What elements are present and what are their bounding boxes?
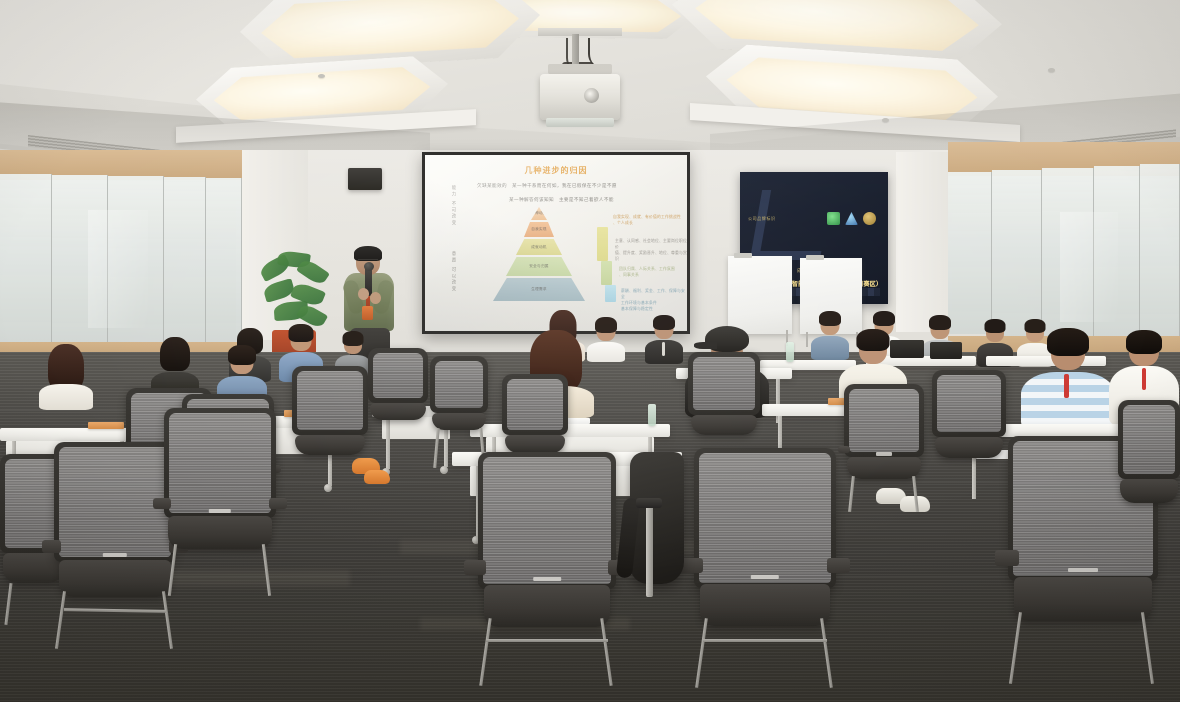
smoke-detector-icon [1048,68,1055,72]
chair-mesh [483,457,611,584]
projector-base-tray [546,118,614,127]
projection-screen: 几种进步的归因 欠缺某能效的 某一种干系而在何如，我在已假保在不少是不愿 某一种… [422,152,690,334]
glass-pane [164,177,206,347]
chair-mesh [169,413,271,513]
chair-backrest [478,452,616,589]
slide-pyramid-diagram: 精神动力 自我实现 成就动机 安全与归属 生理需求 [487,203,591,303]
chair-mesh [297,371,363,430]
chair-mesh [699,453,831,583]
flipchart-easel-pad [728,256,792,334]
mesh-task-chair-foreground[interactable] [164,408,276,574]
chair-mesh [435,361,483,408]
slide-body-line-1: 欠缺某能效的 某一种干系而在何如，我在已假保在不少是不愿 [477,183,617,189]
mesh-task-chair[interactable] [292,366,368,470]
chair-seat [1120,479,1177,503]
chair-seat [59,560,171,596]
presenter-right-hand [370,292,381,304]
attendee-hair [1047,328,1089,356]
slide-side-label-bottom: 意愿 可以改变 [451,251,457,293]
attendee-dark-polo-far [644,316,684,362]
chair-armrest [995,550,1019,565]
glass-pane [992,170,1042,336]
attendee-hair [1126,330,1162,354]
chair-backrest [694,448,836,588]
chair-mesh [849,389,919,452]
attendee-hair [929,315,951,330]
orange-folder [88,422,124,429]
flipchart-clip-icon [734,253,752,258]
pyramid-tier: 成就动机 [516,239,562,255]
pyramid-tier-label: 安全与归属 [529,264,548,269]
chair-label-tag [103,553,127,557]
attendee-man-striped-polo [1020,330,1116,430]
projector-ceiling-plate [538,28,622,36]
chair-label-tag [533,577,561,581]
attendee-hair [160,337,190,371]
orange-shoe [364,470,390,484]
medal-badge-icon [863,212,876,225]
chair-backrest [1118,400,1180,479]
glass-pane [206,178,242,346]
chair-seat [691,415,757,434]
wall-mounted-speaker [348,168,382,190]
slide-note: 自我实现、成就、有价值的工作挑战性 、个人成长 [613,215,681,227]
projector-bracket [548,64,612,74]
attendee-hair [985,319,1006,333]
chair-backrest [502,374,568,435]
flipchart-clip-icon [806,255,824,260]
mesh-task-chair[interactable] [1118,400,1180,520]
attendee-hair [228,345,256,365]
chair-seat [700,584,831,626]
presenter-left-hand [358,288,369,300]
mesh-task-chair[interactable] [932,370,1006,472]
banner-sponsor-icons [827,212,876,225]
flipchart-leg [806,332,808,347]
mesh-task-chair[interactable] [844,384,924,494]
attendee-hair [653,315,675,330]
pyramid-tier: 自我实现 [524,222,554,237]
glass-pane [948,172,992,334]
mesh-task-chair-foreground[interactable] [54,442,176,624]
attendee-top [39,384,93,410]
chair-seat [847,457,921,479]
chair-armrest [464,560,486,575]
chair-mesh [5,459,61,548]
mesh-task-chair[interactable] [430,356,488,442]
attendee-hair [595,317,617,333]
projection-screen-surface: 几种进步的归因 欠缺某能效的 某一种干系而在何如，我在已假保在不少是不愿 某一种… [425,155,687,331]
attendee-lanyard [662,342,665,356]
pyramid-callout-bar [605,285,616,302]
pyramid-callout-bar [601,261,612,285]
chair-seat [370,403,425,420]
banner-brand-text: 公司品牌标识 [748,216,776,222]
pyramid-callout-bar [597,227,608,261]
presenter-badge [362,306,373,320]
slide-note: 团队归属、人际关系、工作氛围 、同事关系 [619,267,675,279]
chair-seat [1014,577,1152,621]
chair-mesh [693,357,755,410]
plant-leaf [262,278,296,303]
chair-backrest [932,370,1006,437]
chair-backrest [368,348,428,403]
chair-backrest [844,384,924,457]
chair-mesh [1123,405,1175,474]
smoke-detector-icon [882,118,889,122]
chair-backrest [688,352,760,415]
chair-label-tag [751,575,779,579]
luggage-handle [646,505,653,597]
mesh-task-chair[interactable] [688,352,760,448]
desk-caster [440,466,448,474]
training-room-photo: 几种进步的归因 欠缺某能效的 某一种干系而在何如，我在已假保在不少是不愿 某一种… [0,0,1180,702]
wing-badge-icon [845,212,858,225]
laptop [930,342,962,359]
slide-note: 薪酬、福利、奖金、工作、保障与安全 工作环境与基本条件 基本保障与稳定性 [621,289,687,313]
chair-armrest [838,446,851,454]
chair-label-tag [209,509,231,513]
water-bottle [786,342,794,362]
plant-leaf [296,257,330,287]
chair-label-tag [876,452,892,456]
glass-reflection [88,210,148,328]
pyramid-tier-label: 自我实现 [531,227,547,232]
water-bottle [648,404,656,426]
chair-armrest [42,540,62,553]
chair-seat [484,585,611,627]
attendee-hair [857,329,890,351]
desk-caster [324,484,332,492]
projector-body [540,74,620,120]
chair-armrest [827,558,850,573]
slide-note: 主意、认同感、社会地位、主要岗位职位价 值、提升度、奖励晋升、地位、尊重与赏识 [615,239,687,263]
chair-mesh [937,375,1001,432]
glass-reflection [1060,212,1118,322]
attendee-hair [819,311,841,326]
chair-mesh [373,353,423,398]
pyramid-tier-label: 成就动机 [531,245,547,250]
banner-logo-watermark-icon [750,190,832,260]
training-desk [470,424,670,437]
glass-partition-left [0,150,242,362]
chair-crossbar [64,609,167,614]
glass-pane [0,174,52,346]
attendee-lanyard [1064,374,1069,398]
chair-armrest [153,498,171,510]
attendee-woman-white-top [38,344,94,408]
attendee-hair [873,311,895,326]
chair-backrest [164,408,276,518]
wall-column-right [896,152,952,332]
attendee-hair [343,331,364,346]
pyramid-tier: 生理需求 [493,278,585,301]
chair-crossbar [703,639,828,642]
chair-backrest [292,366,368,435]
chair-seat [935,437,1003,457]
chair-seat [432,413,485,430]
smoke-detector-icon [318,74,325,78]
pyramid-tier-label: 精神动力 [531,211,547,216]
chair-seat [168,516,271,549]
ceiling-mounted-projector [528,28,632,140]
pyramid-tier-label: 生理需求 [531,287,547,292]
mesh-task-chair-foreground[interactable] [478,452,616,660]
chair-armrest [269,498,287,510]
slide-side-label-top: 能力 不可改变 [451,185,457,227]
glass-pane [1140,164,1180,338]
chair-label-tag [1068,568,1098,572]
mesh-task-chair[interactable] [368,348,428,432]
chair-seat [295,435,365,456]
pyramid-tier: 精神动力 [531,207,547,220]
chair-crossbar [486,639,607,642]
leaf-badge-icon [827,212,840,225]
luggage-handle-grip [636,498,662,508]
projector-lens-icon [584,88,599,103]
baseball-cap-icon [705,326,749,352]
mesh-task-chair-foreground[interactable] [694,448,836,660]
chair-seat [505,435,566,453]
chair-mesh [507,379,563,430]
attendee-lanyard [1142,368,1146,390]
training-desk [0,428,138,441]
attendee-hair [289,324,314,342]
chair-backrest [430,356,488,413]
pyramid-tier: 安全与归属 [506,257,572,276]
slide-title: 几种进步的归因 [425,165,687,176]
